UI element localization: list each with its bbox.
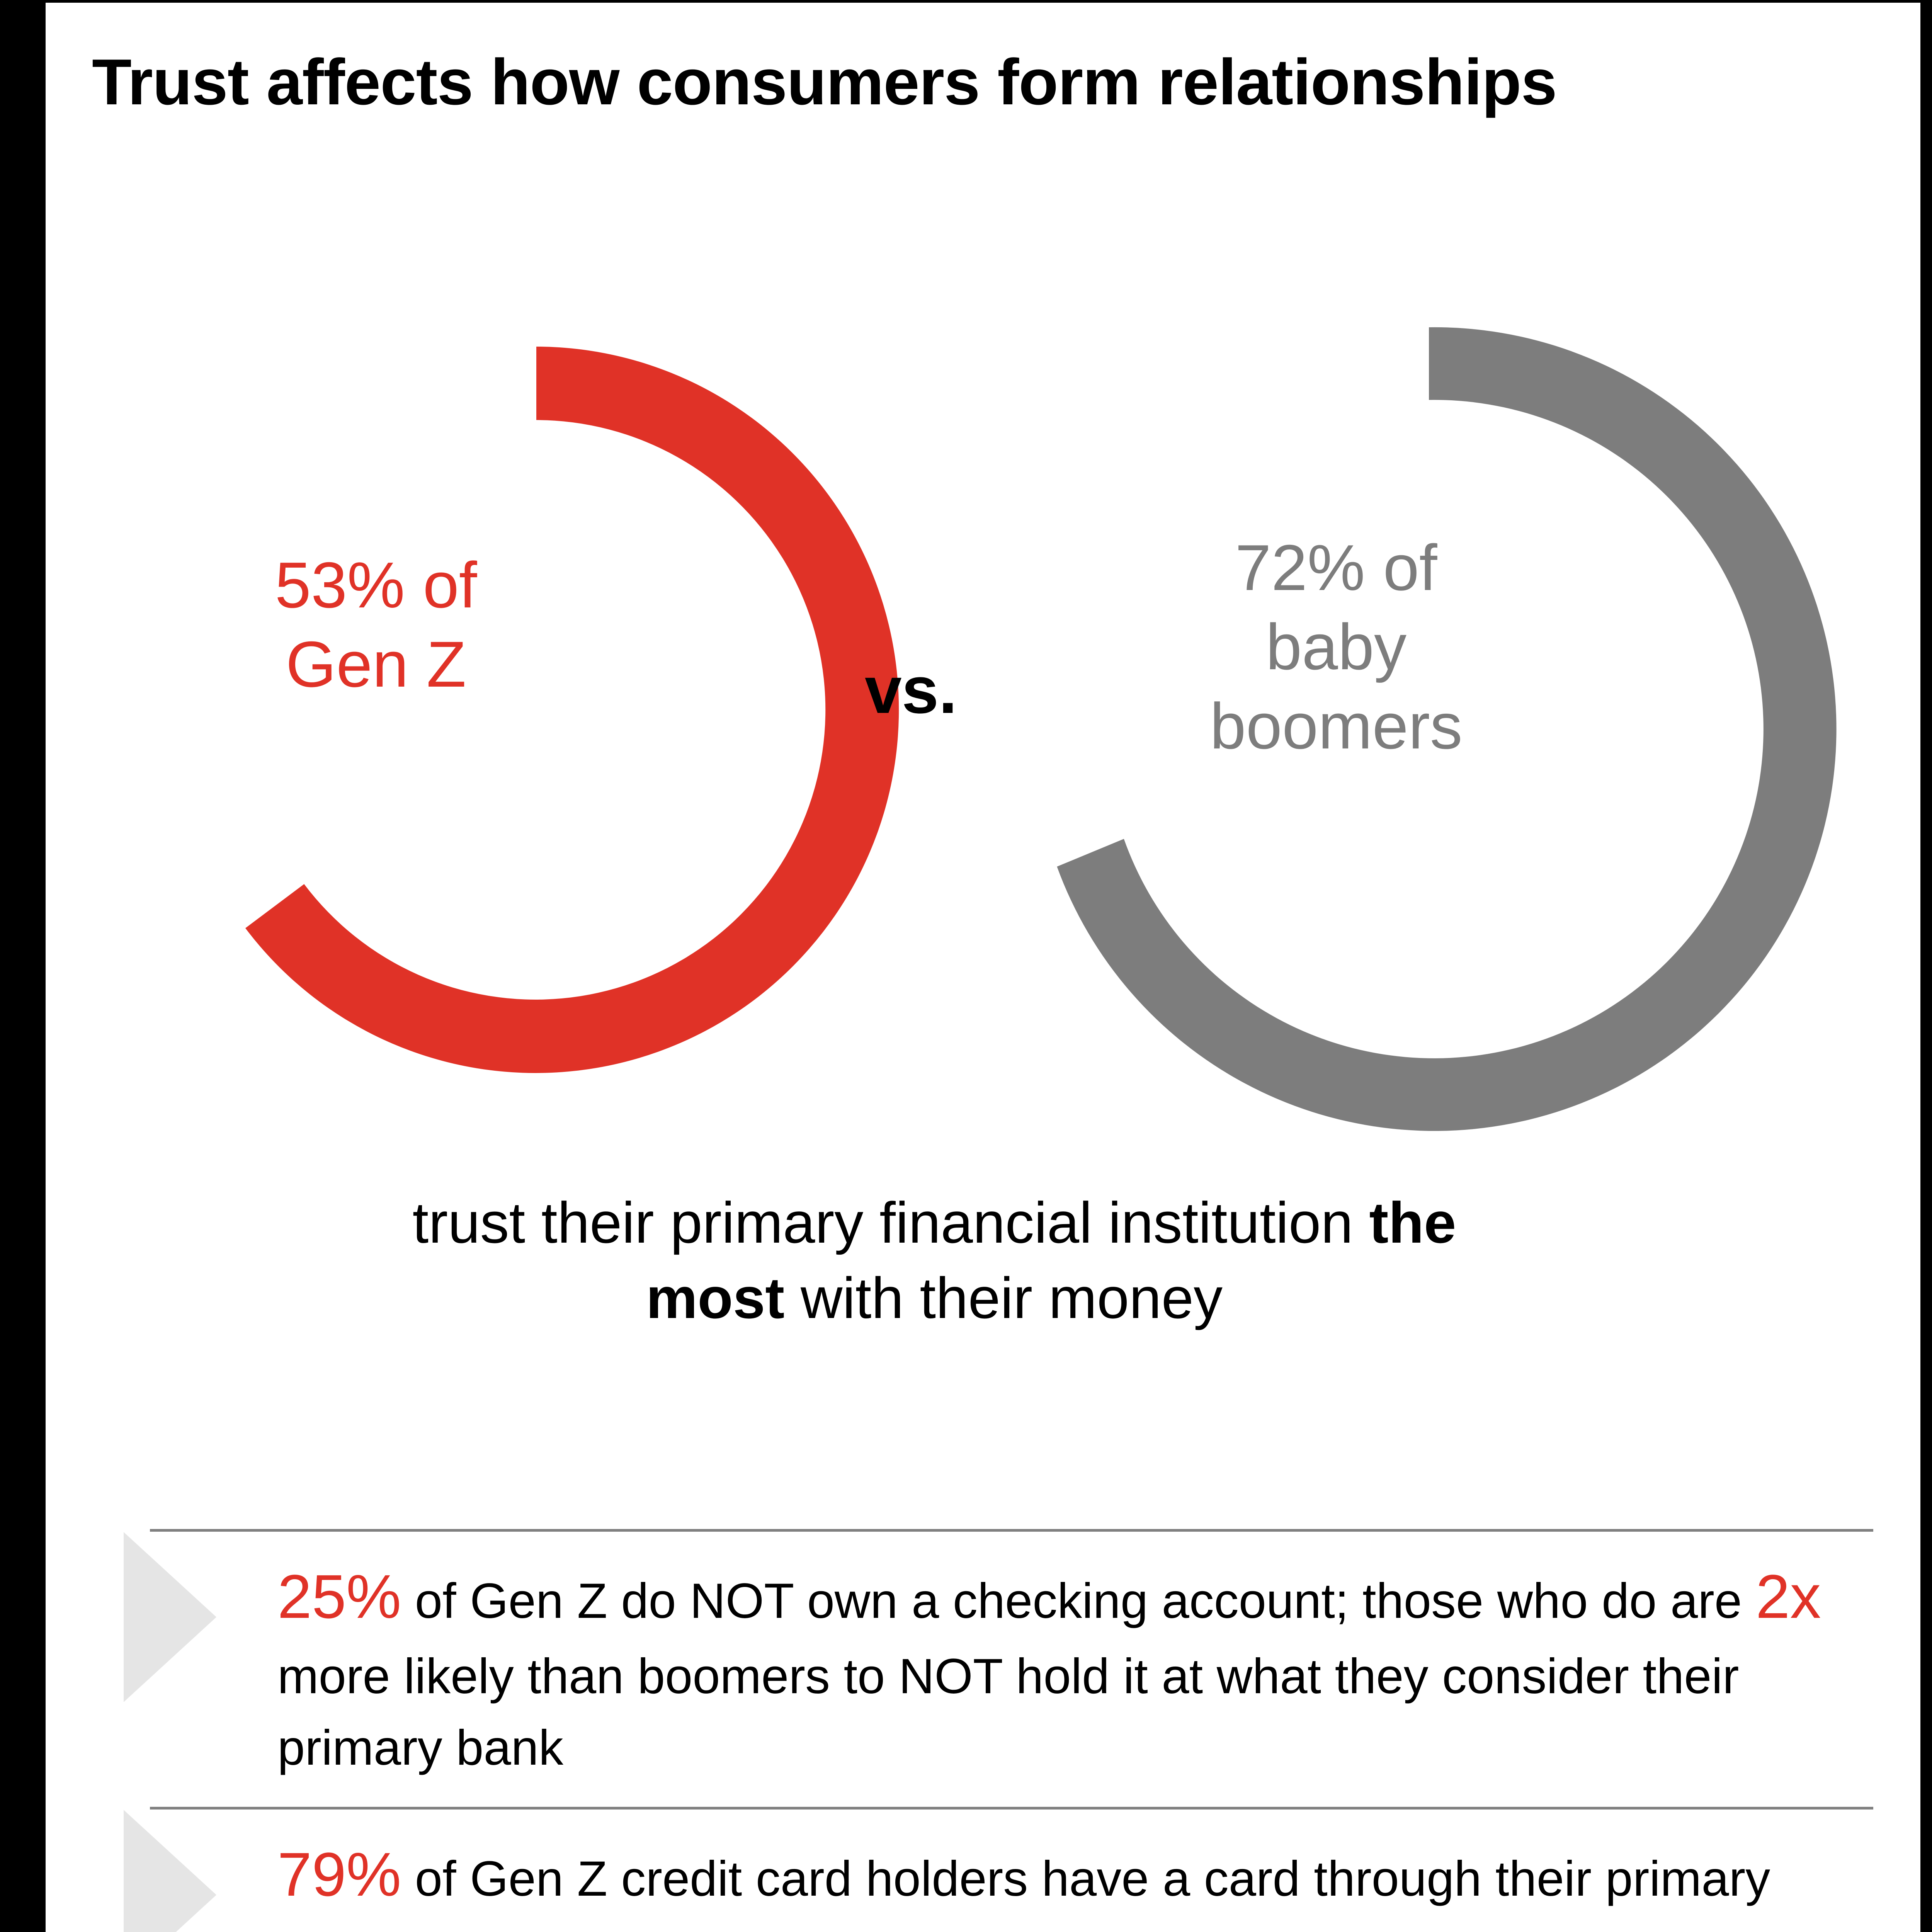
donut-label-genz-line1: 53% of [202,546,550,625]
donut-chart-genz [131,304,942,1116]
triangle-marker-icon [124,1810,216,1932]
donut-label-boomers: 72% of baby boomers [1128,528,1545,766]
caption-part2: with their money [784,1265,1223,1330]
vs-separator-label: vs. [865,652,957,728]
stat-value-primary: 79% [277,1840,401,1909]
stat-value-secondary: 2x [1756,1562,1821,1631]
donut-label-genz-line2: Gen Z [202,625,550,704]
stat-text-a: of Gen Z credit card holders have a card… [277,1851,1770,1932]
list-item: 25% of Gen Z do NOT own a checking accou… [100,1529,1877,1807]
infographic-canvas: Trust affects how consumers form relatio… [46,3,1920,1932]
stat-value-secondary: 61% [475,1929,599,1932]
page-title: Trust affects how consumers form relatio… [92,41,1560,123]
donut-chart-group: 53% of Gen Z vs. 72% of baby boomers [46,273,1920,1201]
donut-label-genz: 53% of Gen Z [202,546,550,704]
list-item-text: 79% of Gen Z credit card holders have a … [277,1830,1866,1932]
caption-part1: trust their primary financial institutio… [413,1190,1369,1255]
donut-label-boomers-line1: 72% of [1128,528,1545,607]
donut-caption: trust their primary financial institutio… [355,1185,1514,1336]
stat-value-primary: 25% [277,1562,401,1631]
donut-arc-genz-value [245,347,899,1073]
list-item-divider [150,1529,1873,1532]
list-item-text: 25% of Gen Z do NOT own a checking accou… [277,1552,1866,1784]
donut-label-boomers-line2: baby [1128,607,1545,687]
donut-label-boomers-line3: boomers [1128,687,1545,766]
infographic-page: Trust affects how consumers form relatio… [0,0,1932,1932]
stat-text-a: of Gen Z do NOT own a checking account; … [401,1573,1755,1629]
list-item-divider [150,1807,1873,1810]
triangle-marker-icon [124,1532,216,1702]
stat-list: 25% of Gen Z do NOT own a checking accou… [100,1529,1877,1932]
list-item: 79% of Gen Z credit card holders have a … [100,1807,1877,1932]
stat-text-b: more likely than boomers to NOT hold it … [277,1649,1739,1775]
